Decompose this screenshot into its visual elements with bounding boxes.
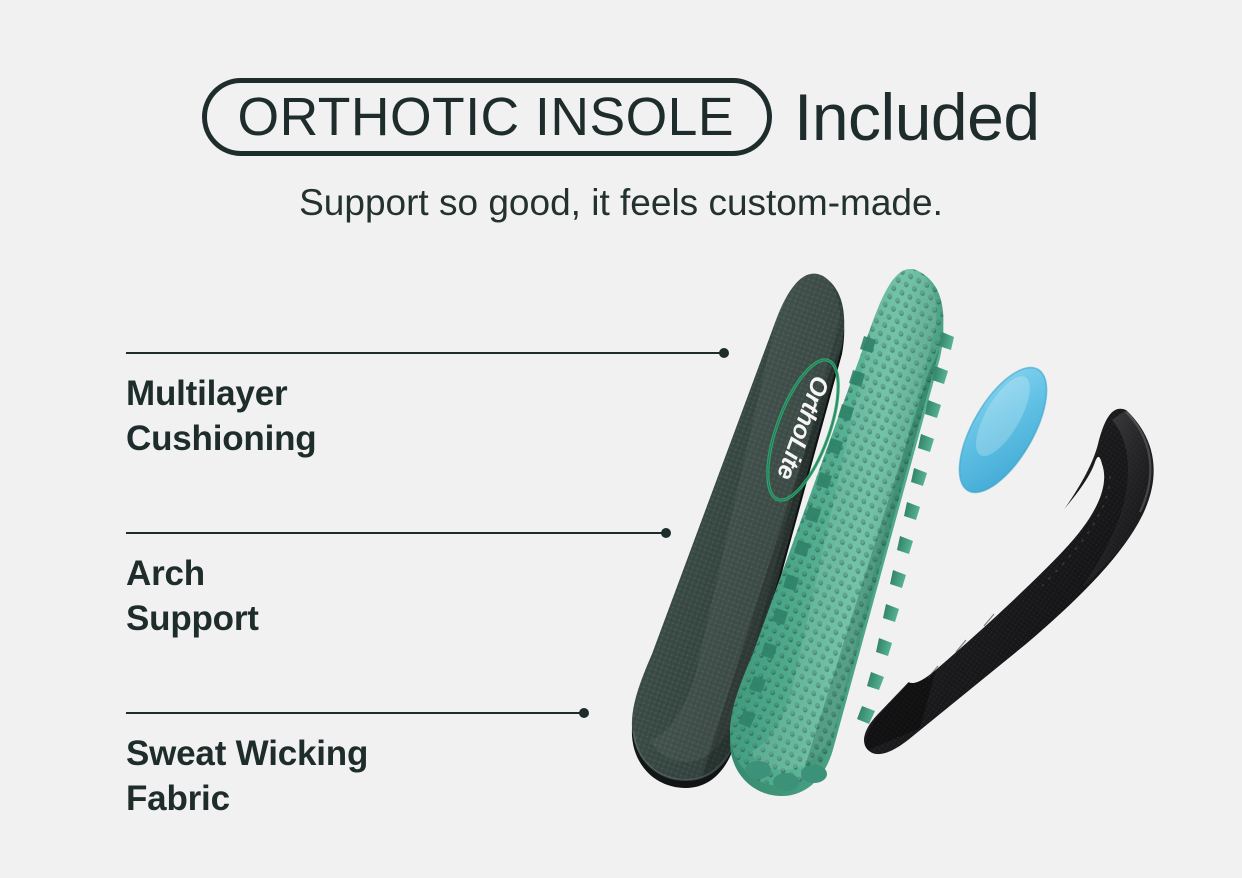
connector-dot (579, 708, 589, 718)
connector-line (126, 348, 316, 358)
orthotic-insole-badge: ORTHOTIC INSOLE (202, 78, 772, 156)
connector-line (126, 708, 368, 718)
blue-gel-pad (942, 354, 1064, 505)
feature-callout-multilayer-cushioning: Multilayer Cushioning (126, 348, 316, 462)
connector-line (126, 528, 259, 538)
subtitle: Support so good, it feels custom-made. (0, 182, 1242, 224)
badge-label: ORTHOTIC INSOLE (238, 90, 735, 144)
headline-row: ORTHOTIC INSOLE Included (0, 78, 1242, 156)
feature-label: Sweat Wicking Fabric (126, 732, 368, 822)
feature-label: Multilayer Cushioning (126, 372, 316, 462)
connector-rule (126, 712, 584, 714)
product-illustration: OrthoLite (590, 262, 1210, 832)
connector-rule (126, 532, 666, 534)
headline-suffix: Included (794, 84, 1040, 150)
infographic-canvas: ORTHOTIC INSOLE Included Support so good… (0, 0, 1242, 878)
feature-callout-arch-support: Arch Support (126, 528, 259, 642)
feature-callout-sweat-wicking-fabric: Sweat Wicking Fabric (126, 708, 368, 822)
feature-label: Arch Support (126, 552, 259, 642)
